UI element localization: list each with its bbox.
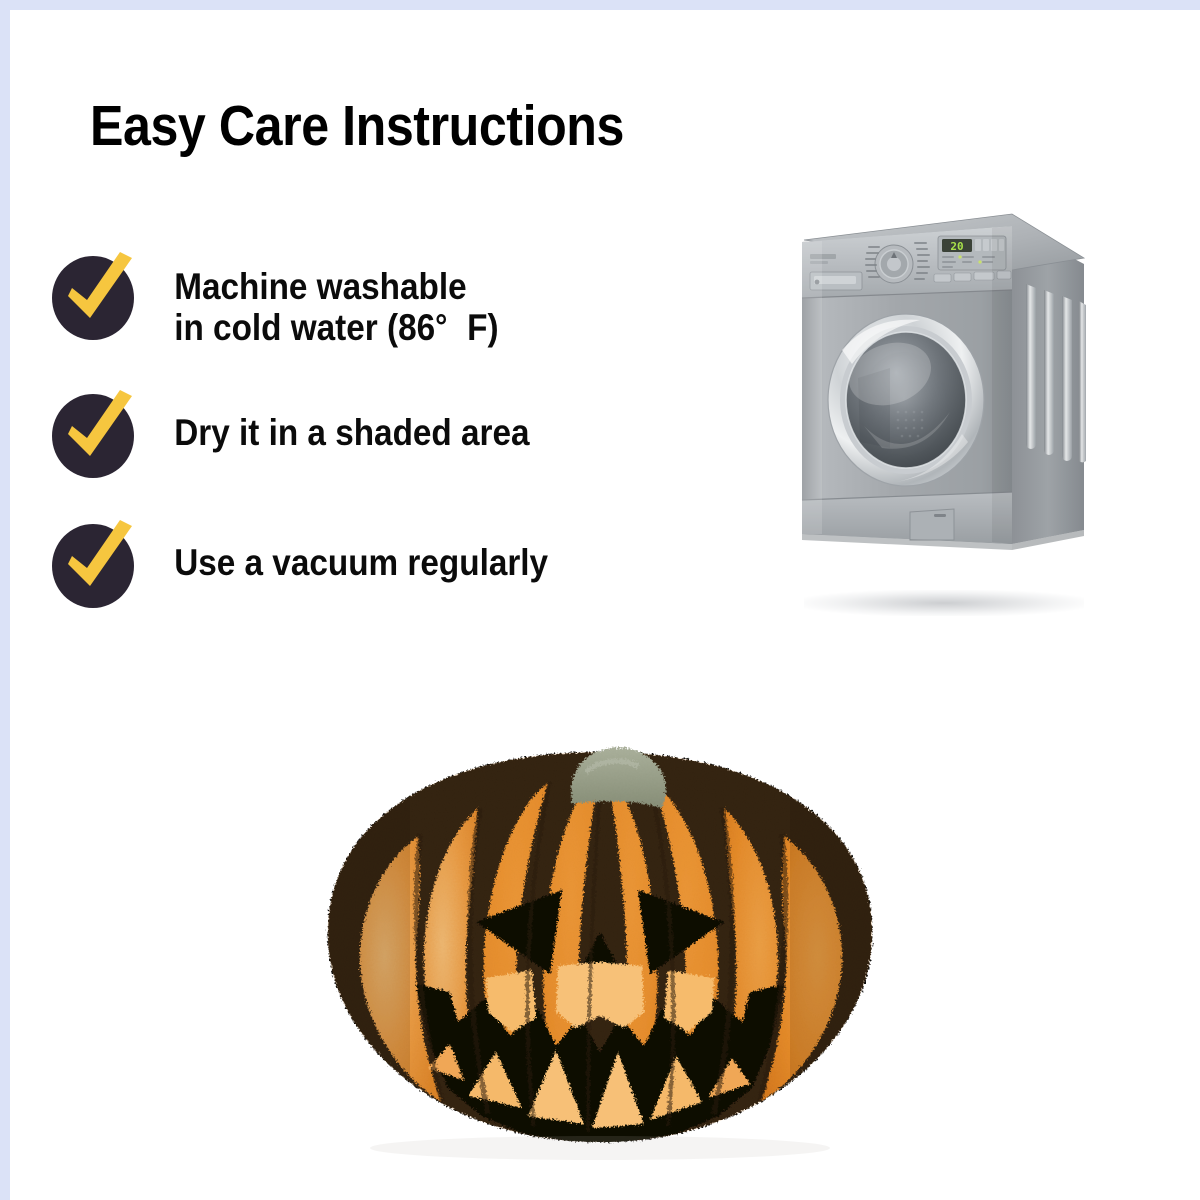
check-circle-icon bbox=[48, 386, 140, 478]
check-circle-icon bbox=[48, 516, 140, 608]
check-mark-icon bbox=[48, 386, 140, 478]
care-instructions-list: Machine washablein cold water (86°F) Dry… bbox=[48, 248, 748, 646]
program-selector-knob bbox=[875, 245, 913, 283]
pumpkin-rug-illustration bbox=[300, 716, 900, 1166]
list-item: Machine washablein cold water (86°F) bbox=[48, 248, 748, 348]
care-line-1: Machine washable bbox=[174, 266, 466, 307]
washing-machine-image: 20 bbox=[786, 198, 1086, 618]
left-edge-strip bbox=[0, 0, 10, 1200]
list-item-label: Machine washablein cold water (86°F) bbox=[140, 248, 499, 348]
washer-door bbox=[828, 314, 984, 486]
washing-machine-illustration: 20 bbox=[786, 198, 1086, 618]
check-mark-icon bbox=[48, 516, 140, 608]
degree-symbol: ° bbox=[435, 308, 447, 346]
top-edge-strip bbox=[0, 0, 1200, 10]
pumpkin-rug-image bbox=[300, 716, 900, 1166]
list-item-label: Use a vacuum regularly bbox=[140, 516, 548, 583]
list-item: Use a vacuum regularly bbox=[48, 516, 748, 608]
washing-machine-shadow bbox=[804, 590, 1084, 616]
check-circle-icon bbox=[48, 248, 140, 340]
display-value: 20 bbox=[950, 240, 963, 253]
care-line-2-post: F) bbox=[467, 307, 498, 348]
product-infographic-page: Easy Care Instructions Machine washablei… bbox=[0, 0, 1200, 1200]
list-item: Dry it in a shaded area bbox=[48, 386, 748, 478]
care-line-2-pre: in cold water (86 bbox=[174, 307, 435, 348]
check-mark-icon bbox=[48, 248, 140, 340]
filter-access-hatch bbox=[910, 509, 954, 540]
list-item-label: Dry it in a shaded area bbox=[140, 386, 530, 453]
page-title: Easy Care Instructions bbox=[90, 95, 624, 157]
